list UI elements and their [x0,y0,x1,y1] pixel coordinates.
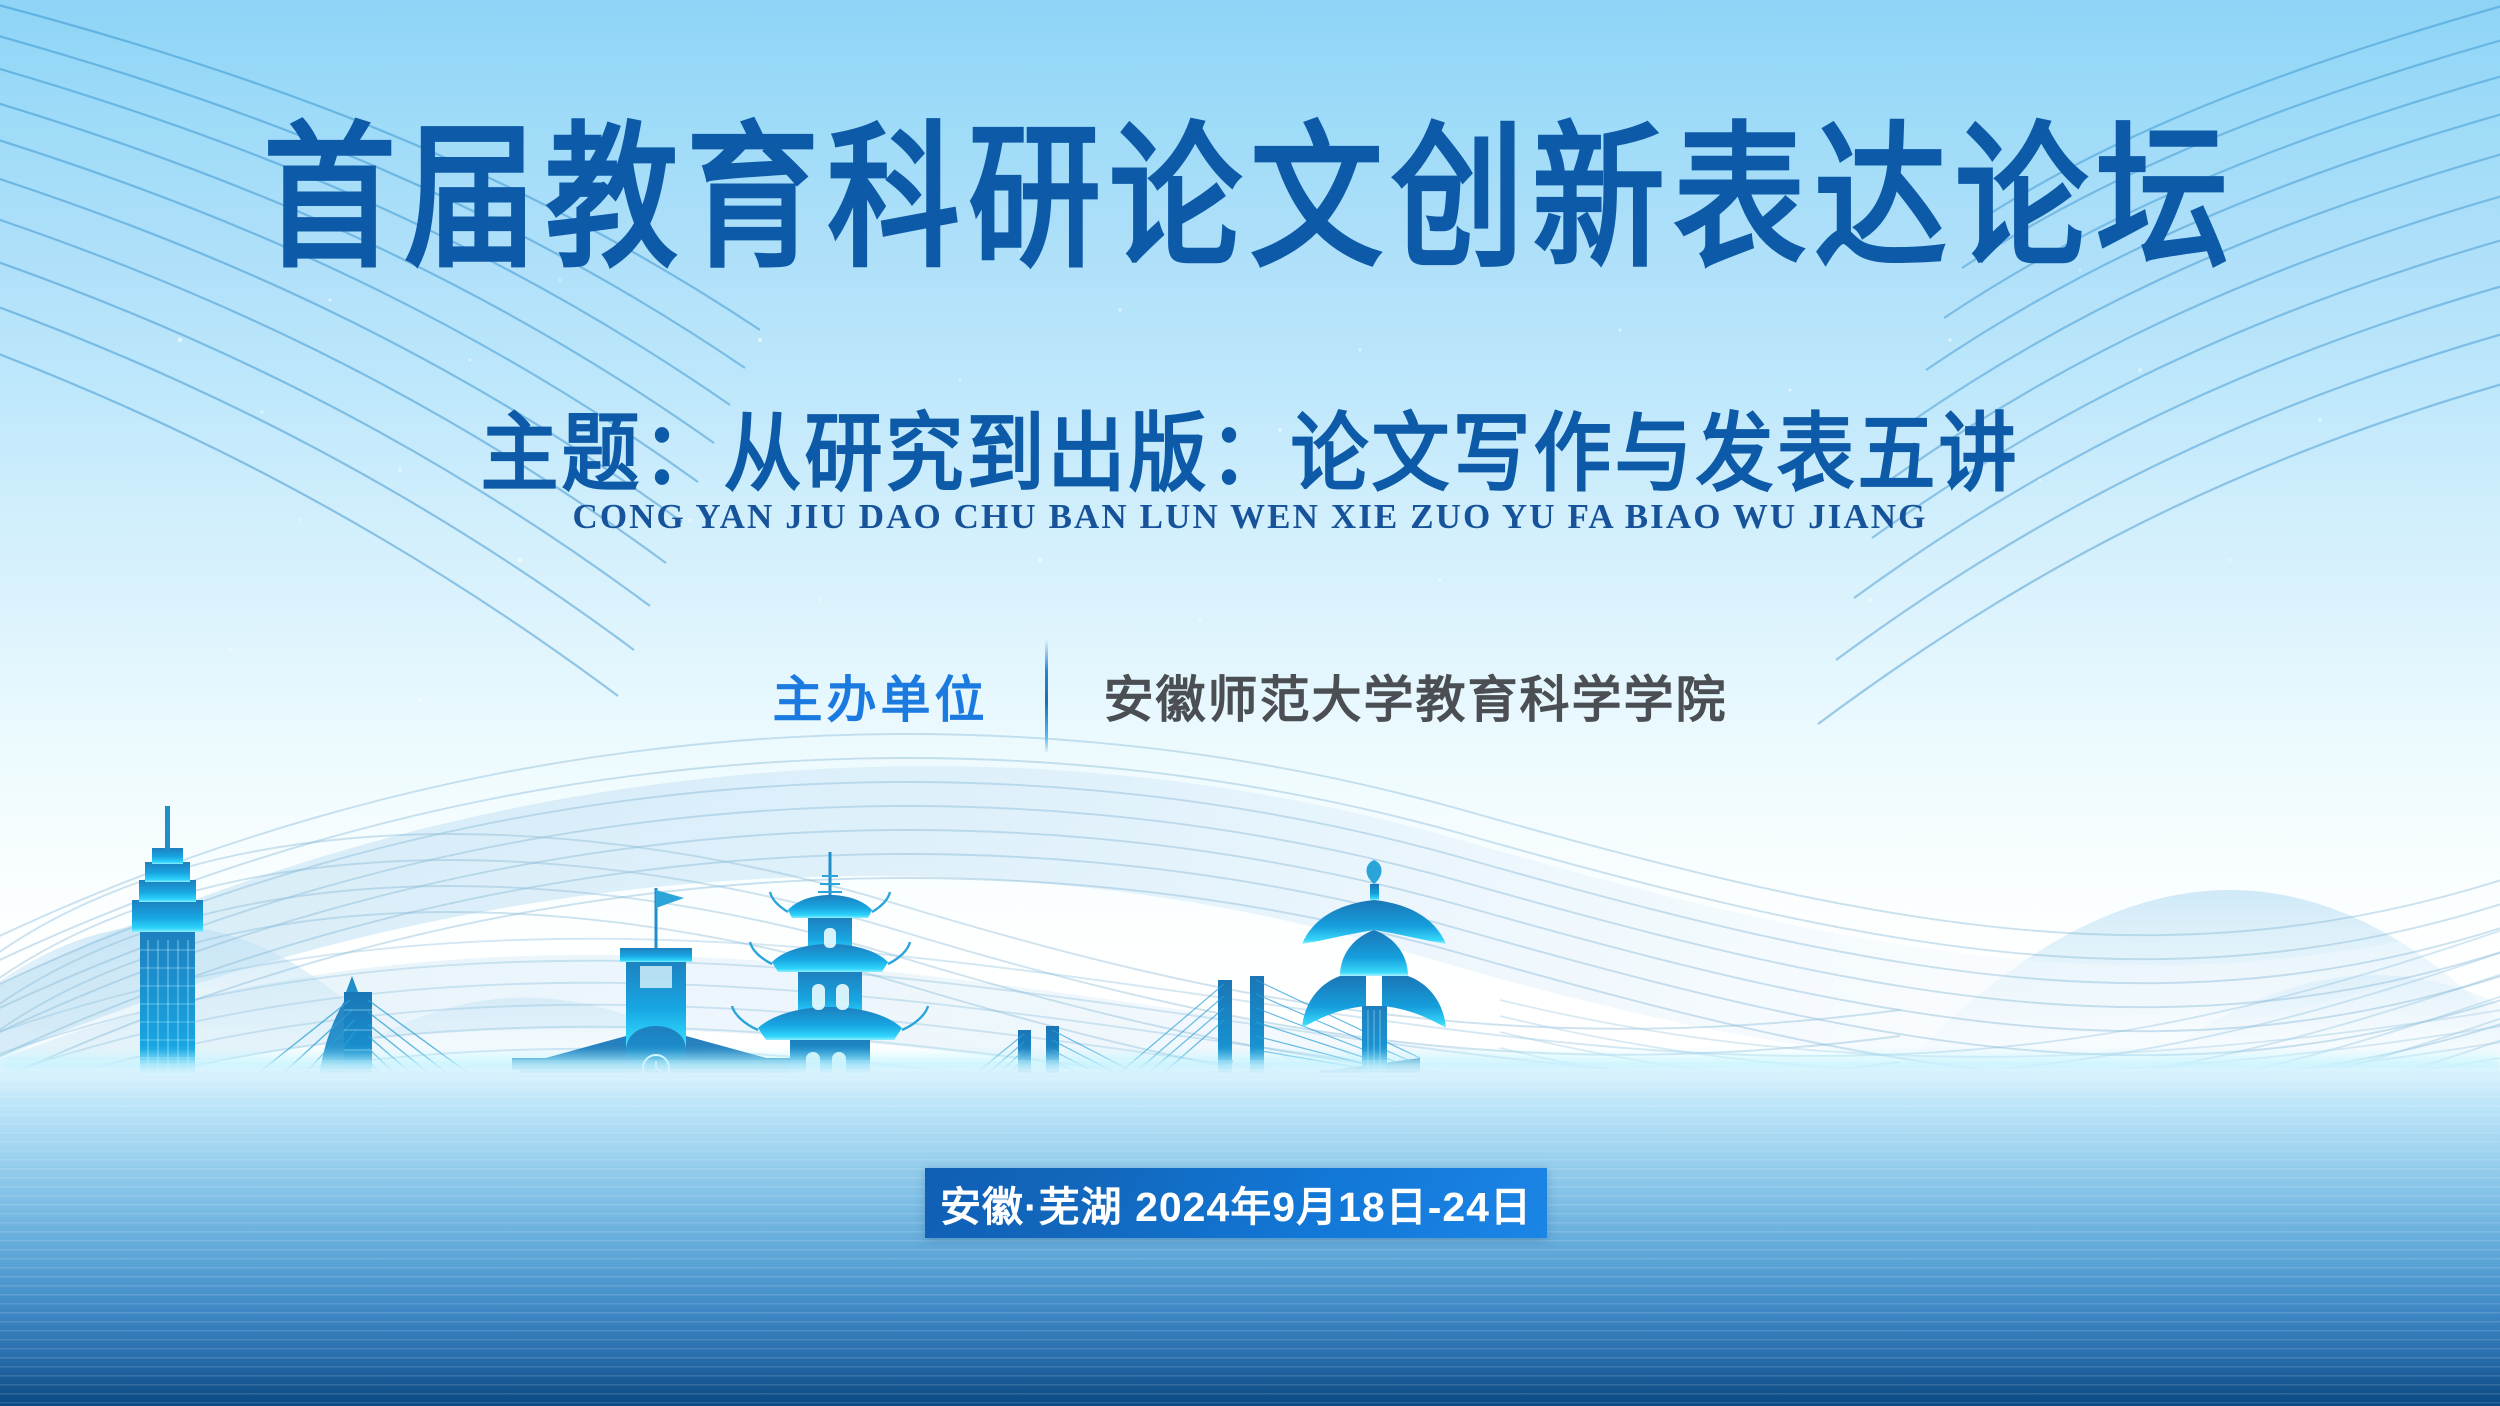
poster-subtitle: 主题：从研究到出版：论文写作与发表五讲 [0,385,2500,508]
date-location-banner: 安徽·芜湖 2024年9月18日-24日 [925,1168,1547,1238]
organizer-label: 主办单位 [773,660,1045,732]
organizer-row: 主办单位 安徽师范大学教育科学学院 [0,640,2500,752]
poster-subtitle-pinyin: CONG YAN JIU DAO CHU BAN LUN WEN XIE ZUO… [0,497,2500,537]
page-title: 首届教育科研论文创新表达论坛 [0,118,2500,283]
organizer-name: 安徽师范大学教育科学学院 [1048,660,1728,732]
poster-canvas: 首届教育科研论文创新表达论坛 主题：从研究到出版：论文写作与发表五讲 CONG … [0,0,2500,1406]
date-location-text: 安徽·芜湖 2024年9月18日-24日 [940,1173,1532,1233]
